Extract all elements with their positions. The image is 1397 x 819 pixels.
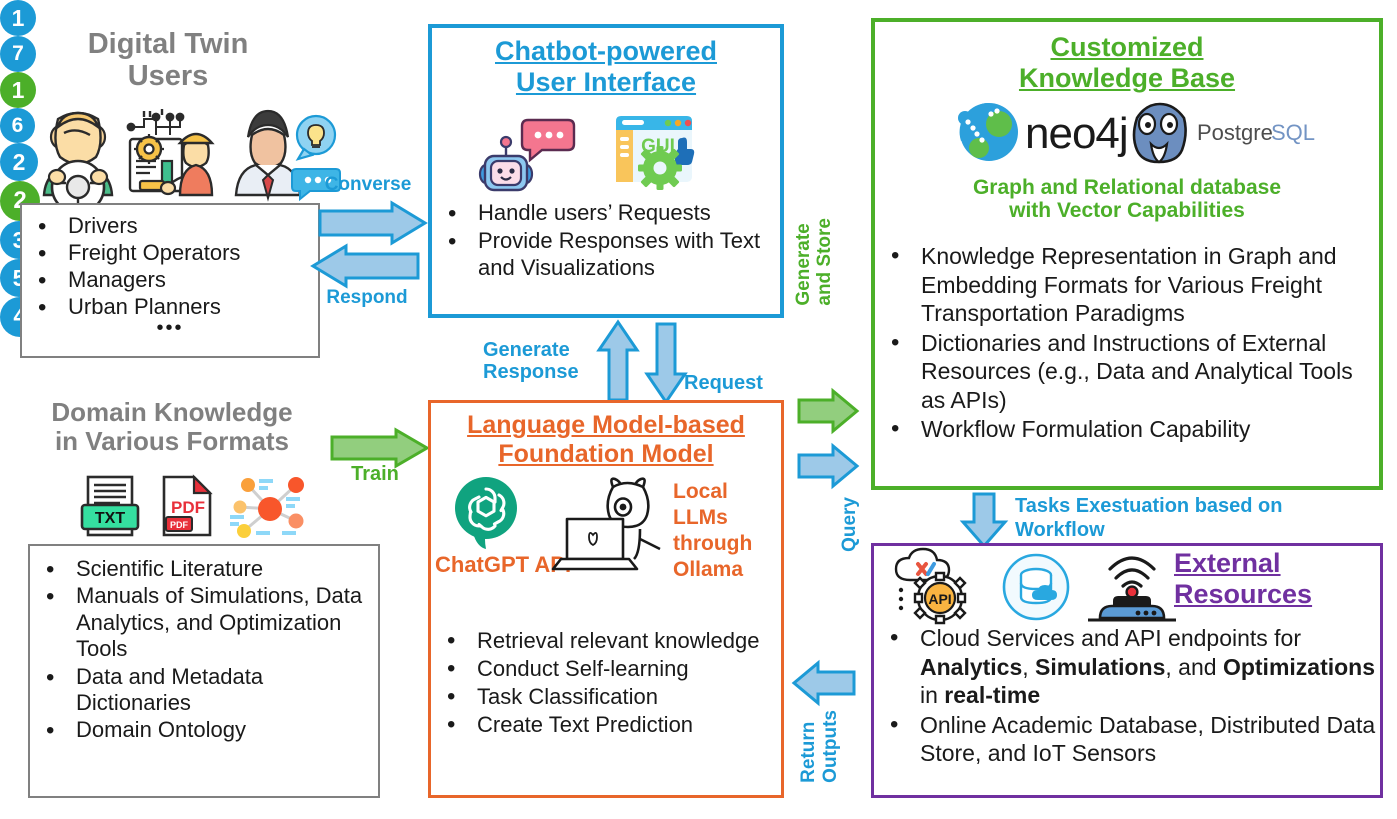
generate-response-label-line1: Generate (483, 339, 579, 361)
list-item: Online Academic Database, Distributed Da… (874, 711, 1380, 768)
list-item: Drivers (22, 213, 318, 239)
list-item: Managers (22, 267, 318, 293)
list-item: Retrieval relevant knowledge (431, 627, 781, 654)
generate-response-arrow-up (596, 320, 640, 402)
external-title-line2: Resources (1174, 579, 1312, 610)
kb-title-line1: Customized (875, 32, 1379, 63)
chatbot-list: Handle users’ Requests Provide Responses… (432, 200, 780, 281)
external-item1-p4: in (920, 682, 944, 708)
users-list: Drivers Freight Operators Managers Urban… (22, 205, 318, 320)
chatbot-ui-box: Chatbot-powered User Interface GUI (428, 24, 784, 318)
external-title-line1: External (1174, 548, 1312, 579)
postgres-text-2: SQL (1271, 120, 1315, 145)
chatgpt-api-label: ChatGPT API (435, 553, 571, 577)
ollama-llama-laptop-icon (557, 477, 687, 577)
list-item: Handle users’ Requests (432, 200, 780, 227)
converse-arrow (318, 201, 428, 245)
tasks-execution-arrow (960, 492, 1008, 548)
foundation-model-box: Language Model-based Foundation Model Ch… (428, 400, 784, 798)
users-list-box: Drivers Freight Operators Managers Urban… (20, 203, 320, 358)
tasks-execution-label: Tasks Exestuation based on Workflow (1015, 494, 1283, 542)
respond-label: Respond (312, 288, 422, 309)
list-item: Create Text Prediction (431, 711, 781, 738)
users-icon-row (30, 105, 310, 195)
external-item1-p3: , and (1165, 654, 1223, 680)
list-item: Conduct Self-learning (431, 655, 781, 682)
list-item: Scientific Literature (30, 556, 378, 582)
driver-icon (30, 105, 126, 195)
generate-response-label: Generate Response (483, 339, 579, 383)
knowledge-heading-line1: Domain Knowledge (12, 398, 332, 427)
cloud-api-icon: API (892, 550, 978, 624)
cloud-database-icon (998, 550, 1074, 624)
svg-text:TXT: TXT (95, 510, 125, 527)
txt-file-icon: TXT (80, 473, 142, 543)
postgresql-logo-icon: Postgre SQL (1125, 100, 1315, 164)
svg-text:PDF: PDF (170, 520, 189, 530)
svg-text:neo4j: neo4j (1025, 109, 1128, 158)
chatbot-icon (480, 108, 576, 192)
list-item: Manuals of Simulations, Data Analytics, … (30, 583, 378, 662)
knowledge-list: Scientific Literature Manuals of Simulat… (30, 546, 378, 744)
return-outputs-arrow (790, 660, 856, 706)
train-arrow (330, 428, 430, 468)
list-item: Freight Operators (22, 240, 318, 266)
return-outputs-line2: Outputs (820, 710, 841, 783)
list-item: Urban Planners (22, 294, 318, 320)
knowledge-icon-row: TXT PDF PDF (80, 473, 300, 543)
users-heading-line1: Digital Twin (28, 28, 308, 60)
list-item: Knowledge Representation in Graph and Em… (875, 242, 1379, 328)
svg-text:API: API (928, 591, 951, 607)
kb-subtitle-line2: with Vector Capabilities (875, 199, 1379, 222)
external-item1-b4: real-time (944, 682, 1040, 708)
engineer-icon (126, 105, 226, 195)
kb-title-line2: Knowledge Base (875, 63, 1379, 94)
users-heading-line2: Users (28, 60, 308, 92)
postgres-text-1: Postgre (1197, 120, 1273, 145)
list-item: Domain Ontology (30, 717, 378, 743)
users-ellipsis: ••• (22, 317, 318, 340)
knowledge-graph-icon (230, 473, 310, 543)
generate-store-line1: Generate (793, 223, 814, 305)
external-item1-p2: , (1022, 654, 1035, 680)
generate-response-label-line2: Response (483, 361, 579, 383)
openai-logo-icon (451, 475, 521, 549)
train-label: Train (330, 463, 420, 485)
list-item: Workflow Formulation Capability (875, 415, 1379, 444)
generate-store-arrow (797, 388, 859, 434)
neo4j-logo-icon: neo4j (953, 100, 1133, 164)
digital-twin-users-heading: Digital Twin Users (28, 28, 308, 93)
knowledge-list-box: Scientific Literature Manuals of Simulat… (28, 544, 380, 798)
kb-subtitle-line1: Graph and Relational database (875, 176, 1379, 199)
chatbot-title-line2: User Interface (432, 67, 780, 98)
generate-store-line2: and Store (814, 218, 835, 306)
query-label: Query (840, 497, 861, 552)
domain-knowledge-heading: Domain Knowledge in Various Formats (12, 398, 332, 456)
return-outputs-line1: Return (798, 722, 819, 783)
tasks-execution-line1: Tasks Exestuation based on (1015, 494, 1283, 518)
respond-arrow (310, 244, 420, 288)
ollama-label-line3: Ollama (673, 557, 781, 583)
kb-list: Knowledge Representation in Graph and Em… (875, 242, 1379, 444)
knowledge-heading-line2: in Various Formats (12, 427, 332, 456)
tasks-execution-line2: Workflow (1015, 518, 1283, 542)
svg-text:PDF: PDF (171, 498, 205, 517)
external-resources-box: API External Resourc (871, 543, 1383, 798)
query-arrow (797, 443, 859, 489)
ollama-label-line2: through (673, 531, 781, 557)
request-arrow-down (644, 322, 688, 404)
external-item1-p1: Cloud Services and API endpoints for (920, 625, 1301, 651)
list-item: Task Classification (431, 683, 781, 710)
generate-and-store-label: Generate and Store (794, 218, 836, 306)
ollama-label: Local LLMs through Ollama (673, 479, 781, 584)
gui-window-icon: GUI (612, 110, 700, 190)
external-item1-b3: Optimizations (1223, 654, 1375, 680)
knowledge-base-box: Customized Knowledge Base neo4j Postgre … (871, 18, 1383, 490)
list-item: Provide Responses with Text and Visualiz… (432, 228, 780, 282)
chatbot-title-line1: Chatbot-powered (432, 36, 780, 67)
foundation-title-line2: Foundation Model (431, 440, 781, 469)
converse-label: Converse (316, 175, 420, 196)
request-label: Request (684, 372, 763, 394)
foundation-list: Retrieval relevant knowledge Conduct Sel… (431, 627, 781, 739)
iot-sensor-icon (1086, 552, 1178, 626)
pdf-file-icon: PDF PDF (156, 473, 218, 543)
list-item: Cloud Services and API endpoints for Ana… (874, 624, 1380, 710)
external-item1-b1: Analytics (920, 654, 1022, 680)
ollama-label-line1: Local LLMs (673, 479, 781, 532)
external-title: External Resources (1174, 548, 1312, 610)
list-item: Dictionaries and Instructions of Externa… (875, 329, 1379, 415)
list-item: Data and Metadata Dictionaries (30, 664, 378, 717)
external-item1-b2: Simulations (1035, 654, 1165, 680)
external-list: Cloud Services and API endpoints for Ana… (874, 624, 1380, 768)
return-outputs-label: Return Outputs (798, 710, 842, 783)
foundation-title-line1: Language Model-based (431, 411, 781, 440)
